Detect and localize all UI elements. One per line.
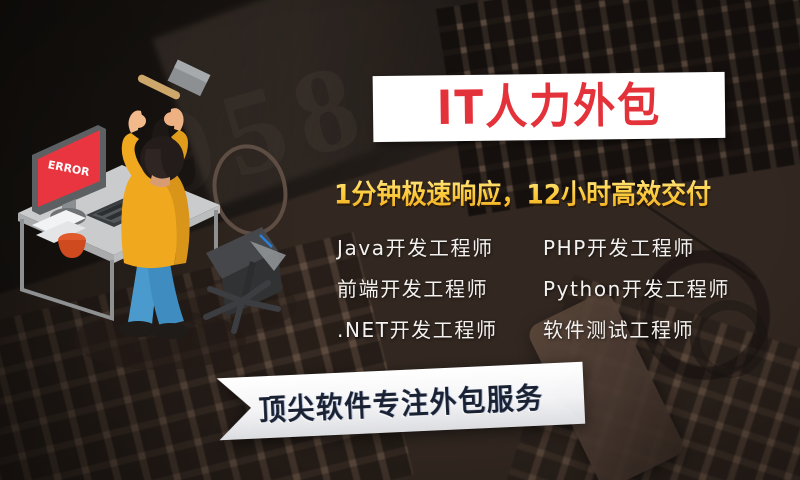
poster-canvas: 958 ERROR xyxy=(0,0,800,480)
hand-left xyxy=(130,114,146,128)
hammer xyxy=(137,59,212,101)
page-title: IT人力外包 xyxy=(437,82,662,132)
job-item-python: Python开发工程师 xyxy=(543,273,793,302)
coffee-mug xyxy=(58,233,86,258)
desk-leg-front xyxy=(110,260,114,320)
job-row: Java开发工程师 PHP开发工程师 xyxy=(337,226,793,267)
job-item-qa: 软件测试工程师 xyxy=(543,314,793,343)
job-item-php: PHP开发工程师 xyxy=(543,232,793,261)
background-hoop xyxy=(207,140,294,241)
title-banner: IT人力外包 xyxy=(373,72,726,142)
shoe-front xyxy=(151,323,189,339)
shoe-back xyxy=(119,321,157,337)
mug-body xyxy=(58,240,86,258)
desk-brace xyxy=(20,287,114,321)
job-item-dotnet: .NET开发工程师 xyxy=(337,314,543,343)
job-row: 前端开发工程师 Python开发工程师 xyxy=(337,267,793,308)
hand-right xyxy=(164,112,180,126)
bottom-ribbon: 顶尖软件专注外包服务 xyxy=(217,362,585,441)
job-item-frontend: 前端开发工程师 xyxy=(337,273,543,302)
subtitle-tagline: 1分钟极速响应，12小时高效交付 xyxy=(334,177,784,214)
developer-smashing-computer-illustration: ERROR xyxy=(10,55,310,385)
job-row: .NET开发工程师 软件测试工程师 xyxy=(337,308,793,349)
job-item-java: Java开发工程师 xyxy=(337,232,543,261)
job-role-list: Java开发工程师 PHP开发工程师 前端开发工程师 Python开发工程师 .… xyxy=(337,226,793,344)
desk-leg-left xyxy=(20,219,24,291)
